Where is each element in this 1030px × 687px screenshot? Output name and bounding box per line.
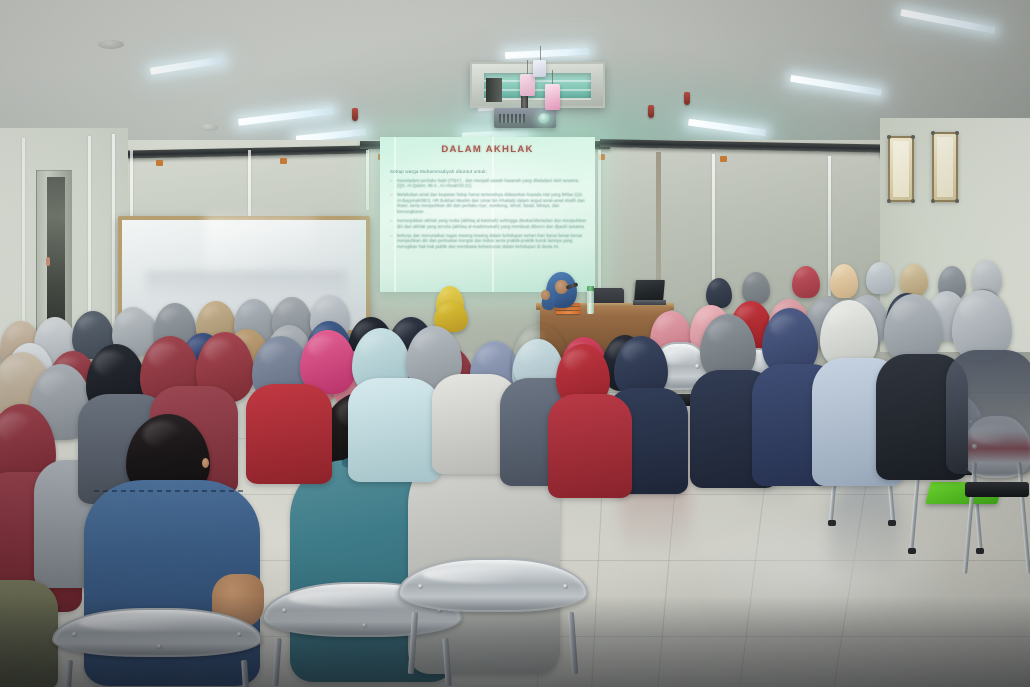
- foreground-shadow-band: [0, 596, 1030, 687]
- seminar-hall-photograph: DALAM AKHLAK Setiap warga Muhammadiyah d…: [0, 0, 1030, 687]
- attendee-torso: [946, 350, 1030, 474]
- attendee-ear: [202, 458, 209, 468]
- shirt-stitch-line: [94, 490, 244, 492]
- attendee-torso: [246, 384, 332, 484]
- attendee-torso: [548, 394, 632, 498]
- attendee-torso: [348, 378, 440, 482]
